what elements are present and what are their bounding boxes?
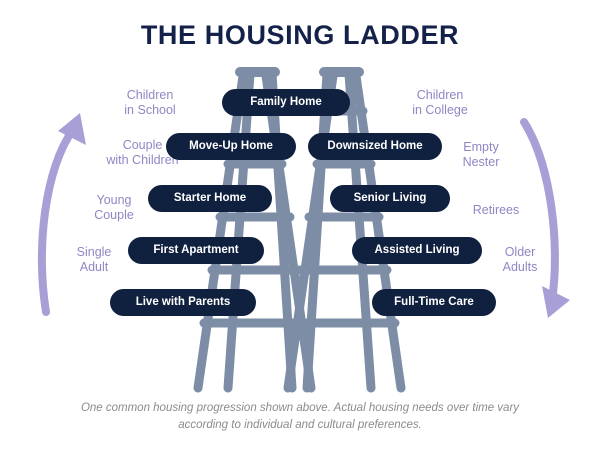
- stage-label-right-empty-nester: Empty Nester: [448, 140, 514, 170]
- rung-pill-starter-home[interactable]: Starter Home: [148, 185, 272, 212]
- stage-label-left-single-adult: Single Adult: [60, 245, 128, 275]
- stage-label-left-young-couple: Young Couple: [78, 193, 150, 223]
- stage-label-right-retirees: Retirees: [463, 203, 529, 218]
- rung-pill-first-apartment[interactable]: First Apartment: [128, 237, 264, 264]
- rung-pill-full-time-care[interactable]: Full-Time Care: [372, 289, 496, 316]
- rung-pill-family-home[interactable]: Family Home: [222, 89, 350, 116]
- rung-pill-assisted-living[interactable]: Assisted Living: [352, 237, 482, 264]
- housing-ladder-infographic: THE HOUSING LADDER: [0, 0, 600, 450]
- footnote-caption: One common housing progression shown abo…: [60, 400, 540, 434]
- rung-pill-move-up-home[interactable]: Move-Up Home: [166, 133, 296, 160]
- stage-label-left-children-in-school: Children in School: [110, 88, 190, 118]
- rung-pill-live-with-parents[interactable]: Live with Parents: [110, 289, 256, 316]
- down-arrow-icon: [524, 122, 570, 318]
- rung-pill-downsized-home[interactable]: Downsized Home: [308, 133, 442, 160]
- stage-label-right-children-in-college: Children in College: [398, 88, 482, 118]
- rung-pill-senior-living[interactable]: Senior Living: [330, 185, 450, 212]
- progression-arrows: [0, 0, 600, 450]
- stage-label-right-older-adults: Older Adults: [488, 245, 552, 275]
